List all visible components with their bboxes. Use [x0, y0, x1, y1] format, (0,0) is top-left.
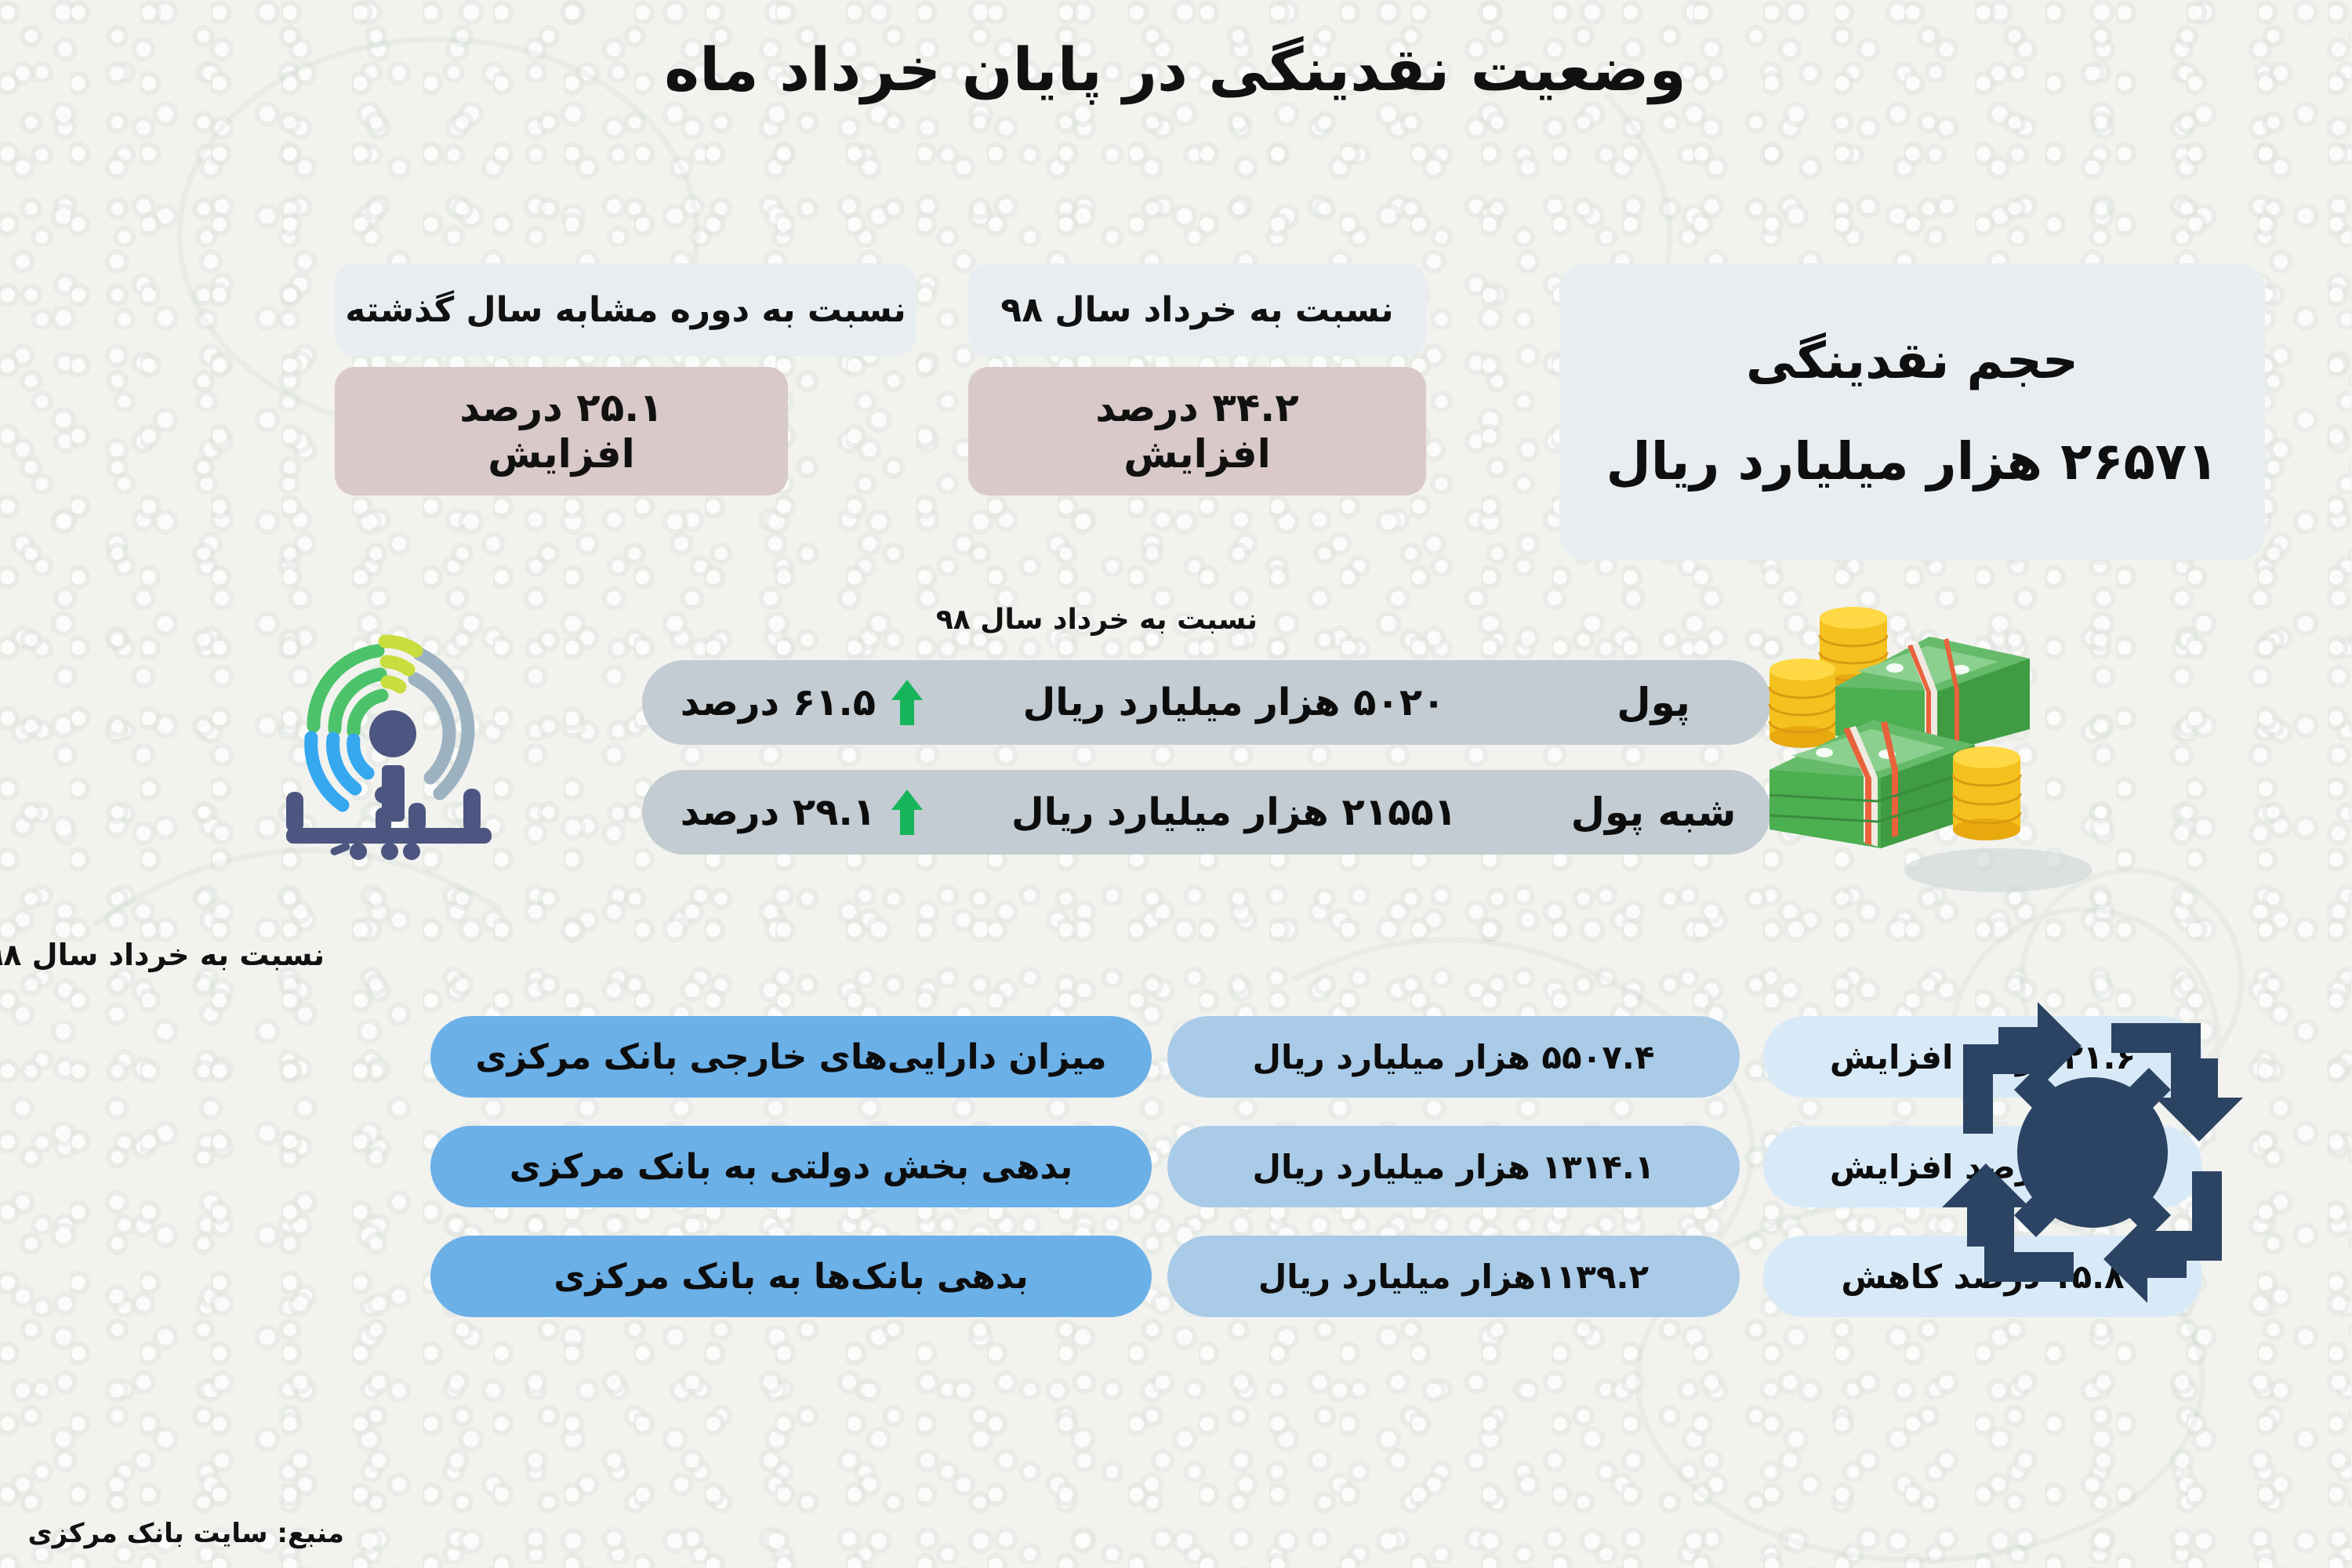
comparison-khordad-98-percent: ۳۴.۲ درصد [1096, 385, 1300, 431]
foreign-assets-label: میزان دارایی‌های خارجی بانک مرکزی [431, 1016, 1152, 1098]
liquidity-volume-label: حجم نقدینگی [1747, 332, 2079, 390]
comparison-khordad-98-direction: افزایش [1124, 431, 1272, 477]
arrow-up-icon [891, 678, 925, 727]
comparison-card-khordad-98: نسبت به خرداد سال ۹۸ ۳۴.۲ درصد افزایش [969, 263, 1427, 495]
comparison-khordad-98-body: ۳۴.۲ درصد افزایش [969, 367, 1427, 495]
table-row: شبه پول ۲۱۵۵۱ هزار میلیارد ریال ۲۹.۱ درص… [643, 770, 1772, 855]
bottom-section-note: نسبت به خرداد سال ۹۸ [0, 938, 325, 972]
comparison-last-year-percent: ۲۵.۱ درصد [460, 385, 664, 431]
quasi-money-row-change: ۲۹.۱ درصد [643, 788, 933, 837]
quasi-money-row-amount: ۲۱۵۵۱ هزار میلیارد ریال [933, 790, 1537, 834]
middle-section-note: نسبت به خرداد سال ۹۸ [937, 604, 1258, 636]
comparison-last-year-direction: افزایش [488, 431, 636, 477]
ibena-logo [267, 610, 533, 869]
quasi-money-row-percent: ۲۹.۱ درصد [681, 790, 877, 834]
comparison-last-year-header: نسبت به دوره مشابه سال گذشته [336, 263, 917, 356]
comparison-card-last-year: نسبت به دوره مشابه سال گذشته ۲۵.۱ درصد ا… [336, 263, 917, 495]
coin-stack-front [1954, 746, 2021, 840]
government-debt-value: ۱۳۱۴.۱ هزار میلیارد ریال [1168, 1126, 1740, 1207]
quasi-money-row-name: شبه پول [1537, 789, 1772, 835]
comparison-khordad-98-header: نسبت به خرداد سال ۹۸ [969, 263, 1427, 356]
money-row-amount: ۵۰۲۰ هزار میلیارد ریال [933, 681, 1537, 724]
arrow-up-icon [891, 788, 925, 837]
coin-stack-left [1770, 659, 1836, 748]
table-row: پول ۵۰۲۰ هزار میلیارد ریال ۶۱.۵ درصد [643, 660, 1772, 745]
liquidity-volume-value: ۲۶۵۷۱ هزار میلیارد ریال [1607, 431, 2220, 492]
liquidity-volume-card: حجم نقدینگی ۲۶۵۷۱ هزار میلیارد ریال [1560, 263, 2266, 560]
comparison-last-year-body: ۲۵.۱ درصد افزایش [336, 367, 789, 495]
source-caption: منبع: سایت بانک مرکزی [28, 1518, 345, 1549]
money-row-percent: ۶۱.۵ درصد [681, 681, 877, 724]
banks-debt-value: ۱۱۳۹.۲هزار میلیارد ریال [1168, 1236, 1740, 1317]
money-row-change: ۶۱.۵ درصد [643, 678, 933, 727]
summary-cards-row: حجم نقدینگی ۲۶۵۷۱ هزار میلیارد ریال نسبت… [0, 263, 2352, 561]
page-title: وضعیت نقدینگی در پایان خرداد ماه [0, 34, 2352, 104]
foreign-assets-value: ۵۵۰۷.۴ هزار میلیارد ریال [1168, 1016, 1740, 1098]
money-stacks-illustration [1764, 604, 2093, 917]
central-bank-of-iran-logo [1921, 980, 2266, 1325]
government-debt-label: بدهی بخش دولتی به بانک مرکزی [431, 1126, 1152, 1207]
money-row-name: پول [1537, 680, 1772, 725]
banks-debt-label: بدهی بانک‌ها به بانک مرکزی [431, 1236, 1152, 1317]
